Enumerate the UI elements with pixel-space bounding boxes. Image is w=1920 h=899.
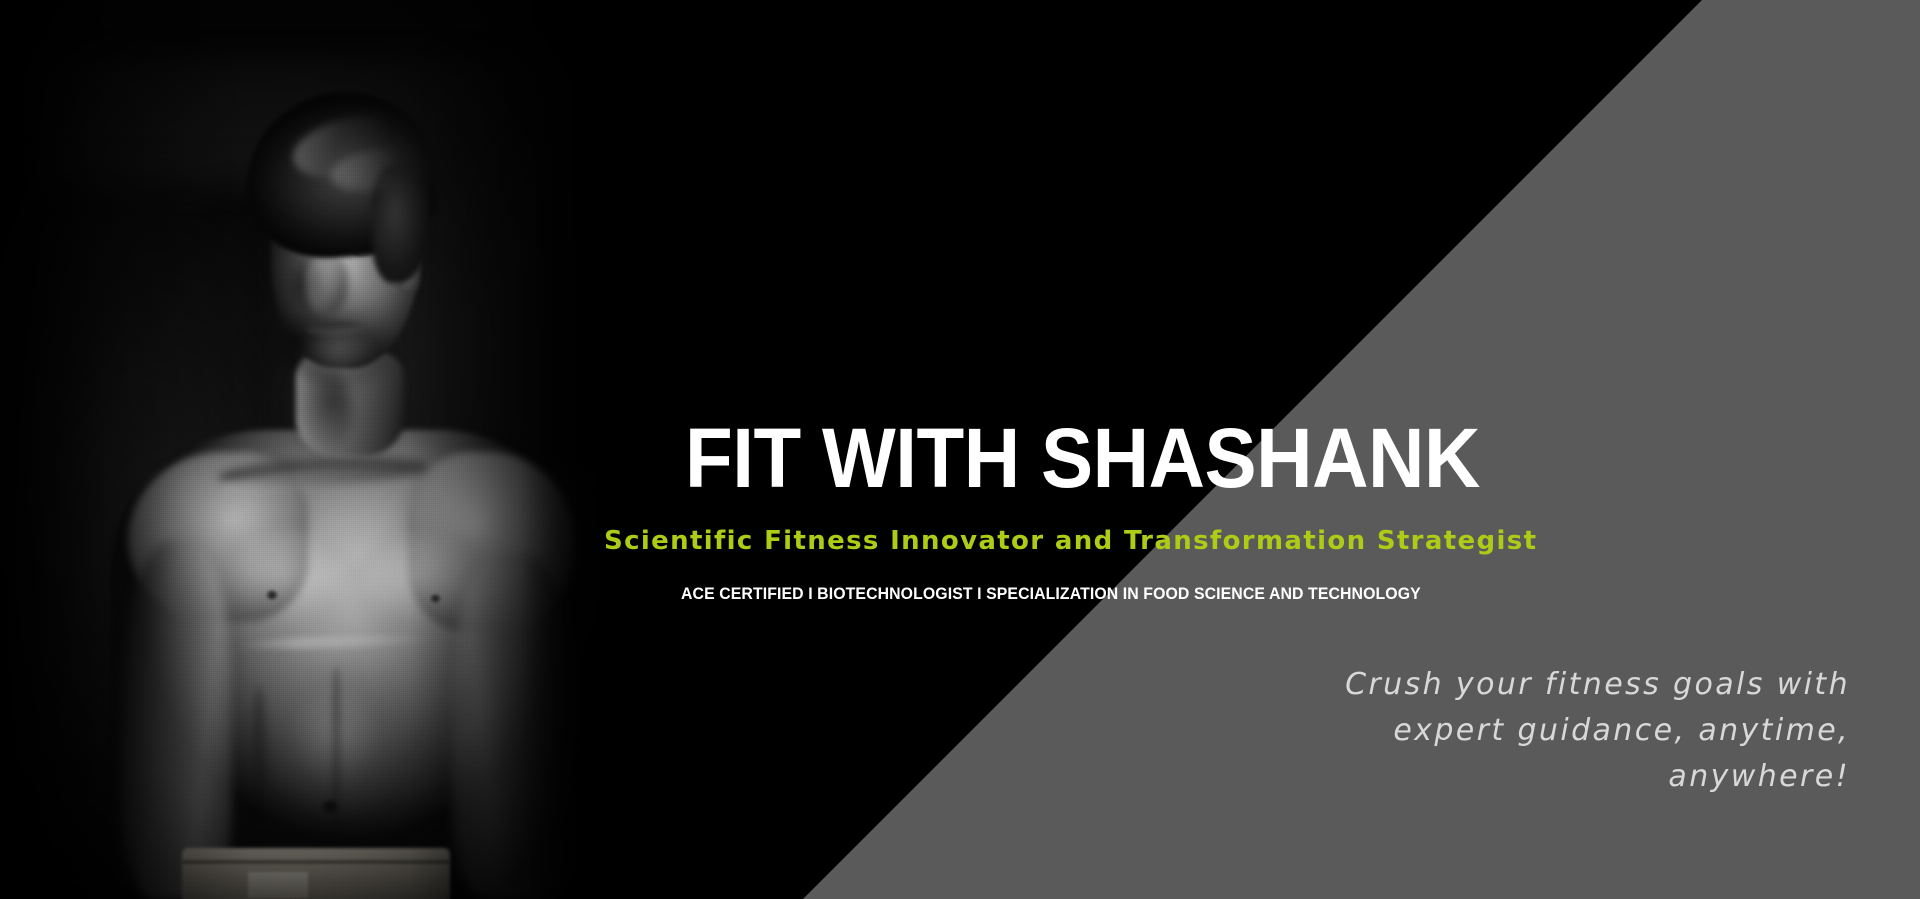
hero-credentials: ACE CERTIFIED I BIOTECHNOLOGIST I SPECIA…	[681, 586, 1421, 603]
hero-tagline: Crush your fitness goals with expert gui…	[1290, 662, 1850, 800]
hero-tagline-line-2: expert guidance, anytime,	[1290, 708, 1850, 754]
hero-title: FIT WITH SHASHANK	[685, 416, 1480, 500]
hero-text-layer: FIT WITH SHASHANK Scientific Fitness Inn…	[0, 0, 1920, 899]
hero-tagline-line-1: Crush your fitness goals with	[1290, 662, 1850, 708]
hero-subtitle: Scientific Fitness Innovator and Transfo…	[604, 528, 1537, 554]
hero-tagline-line-3: anywhere!	[1290, 754, 1850, 800]
hero-banner: FIT WITH SHASHANK Scientific Fitness Inn…	[0, 0, 1920, 899]
